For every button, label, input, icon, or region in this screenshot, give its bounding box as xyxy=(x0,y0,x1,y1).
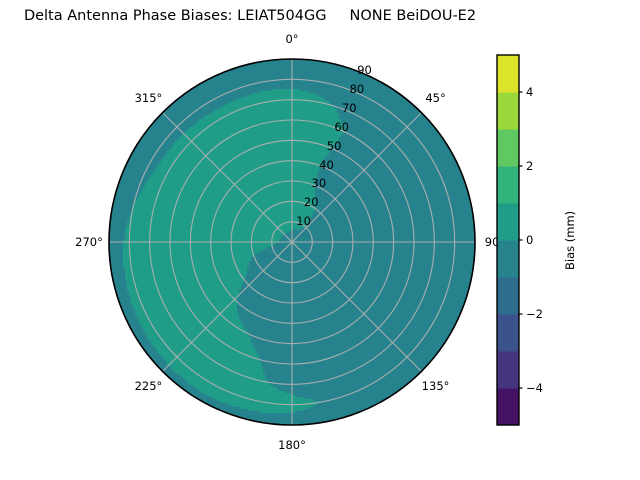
angular-tick-135: 135° xyxy=(422,379,450,393)
colorbar-tick-label-4: 4 xyxy=(526,85,533,99)
radial-tick-90: 90 xyxy=(357,63,372,77)
radial-tick-20: 20 xyxy=(304,195,319,209)
angular-tick-180: 180° xyxy=(278,438,306,452)
colorbar-tick-label--4: −4 xyxy=(526,381,543,395)
colorbar-axis-label: Bias (mm) xyxy=(563,211,577,270)
colorbar-tick-label-2: 2 xyxy=(526,159,533,173)
angular-tick-315: 315° xyxy=(135,91,163,105)
angular-tick-45: 45° xyxy=(425,91,445,105)
radial-tick-80: 80 xyxy=(350,82,365,96)
radial-tick-70: 70 xyxy=(342,101,357,115)
angular-tick-225: 225° xyxy=(135,379,163,393)
radial-tick-50: 50 xyxy=(327,139,342,153)
radial-tick-30: 30 xyxy=(312,176,327,190)
colorbar-tick-label--2: −2 xyxy=(526,307,543,321)
radial-tick-10: 10 xyxy=(296,214,311,228)
radial-tick-60: 60 xyxy=(334,120,349,134)
colorbar-tick-label-0: 0 xyxy=(526,233,533,247)
angular-tick-90: 90° xyxy=(485,235,505,249)
figure-canvas: Delta Antenna Phase Biases: LEIAT504GG N… xyxy=(0,0,640,480)
angular-tick-270: 270° xyxy=(75,235,103,249)
polar-grid xyxy=(109,59,475,425)
angular-tick-0: 0° xyxy=(285,32,298,46)
radial-tick-40: 40 xyxy=(319,158,334,172)
